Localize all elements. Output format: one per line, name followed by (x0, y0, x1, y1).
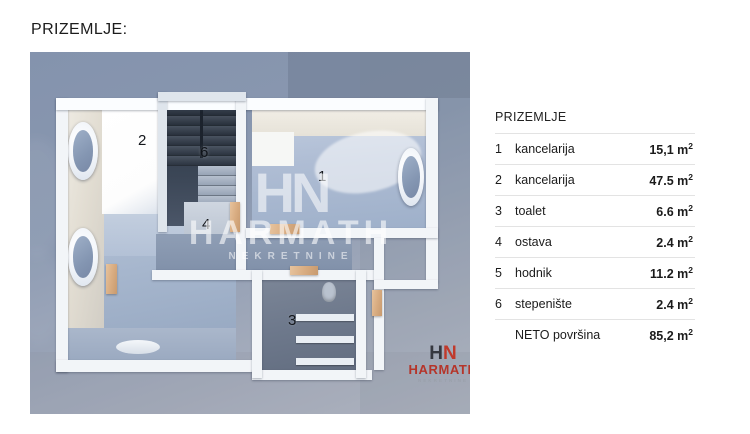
legend-row-name: stepenište (515, 297, 656, 311)
legend-row-area-unit: 2 (688, 296, 693, 306)
legend-row-area-unit: 2 (688, 234, 693, 244)
corner-logo-subtitle: NEKRETNINE (405, 378, 470, 383)
legend-title: PRIZEMLJE (495, 110, 695, 133)
wall-bottom-right (252, 370, 372, 380)
legend-row-number: 5 (495, 266, 515, 280)
legend-row-number: 3 (495, 204, 515, 218)
wall-outer-bottom (56, 360, 252, 372)
porthole-window-lower (68, 228, 98, 286)
wall-hallway-bottom (152, 270, 374, 280)
legend-total-label: NETO površina (515, 328, 649, 342)
legend-row-area-unit: 2 (688, 203, 693, 213)
legend-row-area-unit: 2 (688, 265, 693, 275)
wall-outer-left (56, 98, 68, 372)
legend-row-number: 1 (495, 142, 515, 156)
wall-stair-left (158, 92, 167, 232)
legend-total-area-unit: 2 (688, 327, 693, 337)
door-jamb-toilet (290, 266, 318, 275)
door-jamb-hallway-left (106, 264, 117, 294)
legend-total-area-value: 85,2 m (649, 329, 688, 343)
legend-row-number: 6 (495, 297, 515, 311)
wall-divider-vertical (236, 98, 246, 276)
legend-row-area-unit: 2 (688, 172, 693, 182)
stair-step (198, 186, 240, 196)
door-jamb-room1 (270, 224, 300, 234)
toilet-fixture (322, 282, 336, 302)
door-jamb-annex (372, 290, 382, 316)
wall-outer-top-right (244, 98, 438, 110)
room-label-3: 3 (288, 312, 296, 329)
legend-row-area: 6.6 m2 (656, 203, 695, 219)
porthole-glass (73, 130, 93, 172)
corner-logo-h: H (429, 343, 443, 364)
legend-row-area-value: 2.4 m (656, 236, 688, 250)
toilet-shelf (296, 358, 354, 365)
stair-step (166, 116, 240, 126)
stair-step (198, 176, 240, 186)
corner-logo: HN HARMATH NEKRETNINE (405, 344, 470, 383)
porthole-glass (402, 156, 420, 198)
wall-toilet-right (356, 270, 366, 378)
toilet-shelf (296, 336, 354, 343)
corner-logo-name: HARMATH (405, 363, 470, 378)
legend-row-area-value: 2.4 m (656, 298, 688, 312)
stair-step (198, 166, 240, 176)
legend-row-area: 2.4 m2 (656, 296, 695, 312)
room-label-2: 2 (138, 132, 146, 149)
legend-row-area-value: 6.6 m (656, 205, 688, 219)
room-1-office: 1 (252, 106, 430, 234)
room-label-1: 1 (318, 168, 326, 185)
floor-object (116, 340, 160, 354)
door-jamb-stair (230, 202, 240, 232)
table-row-total: NETO površina 85,2 m2 (495, 319, 695, 350)
toilet-shelf (296, 314, 354, 321)
stair-step (166, 126, 240, 136)
wall-right-annex-bottom (374, 280, 438, 289)
room-3-toilet: 3 (262, 272, 358, 374)
room-1-sunlight-patch (252, 132, 294, 166)
wall-toilet-left (252, 270, 262, 378)
legend-row-name: kancelarija (515, 142, 649, 156)
legend-row-area-value: 47.5 m (649, 174, 688, 188)
corner-logo-n: N (443, 343, 457, 364)
page-root: PRIZEMLJE: (0, 0, 750, 434)
wall-stair-top (158, 92, 246, 101)
legend-row-area-value: 15,1 m (649, 143, 688, 157)
legend-row-area: 47.5 m2 (649, 172, 695, 188)
house-body: 2 1 (56, 84, 438, 384)
room-label-6: 6 (200, 144, 208, 161)
table-row: 4 ostava 2.4 m2 (495, 226, 695, 257)
floorplan-render: 2 1 (30, 52, 470, 414)
legend-row-area-value: 11.2 m (650, 267, 688, 281)
porthole-window-right (398, 148, 424, 206)
room-label-4: 4 (202, 216, 210, 233)
table-row: 6 stepenište 2.4 m2 (495, 288, 695, 319)
corner-logo-monogram: HN (405, 344, 470, 363)
page-title: PRIZEMLJE: (31, 21, 127, 39)
legend-row-name: toalet (515, 204, 656, 218)
porthole-glass (73, 236, 93, 278)
legend-row-name: hodnik (515, 266, 650, 280)
legend-row-area: 2.4 m2 (656, 234, 695, 250)
legend-row-area: 15,1 m2 (649, 141, 695, 157)
legend-row-number: 4 (495, 235, 515, 249)
legend-table: PRIZEMLJE 1 kancelarija 15,1 m2 2 kancel… (495, 110, 695, 350)
wall-outer-right (426, 98, 438, 282)
legend-total-area: 85,2 m2 (649, 327, 695, 343)
legend-row-area-unit: 2 (688, 141, 693, 151)
table-row: 3 toalet 6.6 m2 (495, 195, 695, 226)
table-row: 1 kancelarija 15,1 m2 (495, 133, 695, 164)
legend-row-number: 2 (495, 173, 515, 187)
table-row: 5 hodnik 11.2 m2 (495, 257, 695, 288)
legend-row-name: ostava (515, 235, 656, 249)
table-row: 2 kancelarija 47.5 m2 (495, 164, 695, 195)
legend-row-name: kancelarija (515, 173, 649, 187)
porthole-window-upper (68, 122, 98, 180)
legend-row-area: 11.2 m2 (650, 265, 695, 281)
